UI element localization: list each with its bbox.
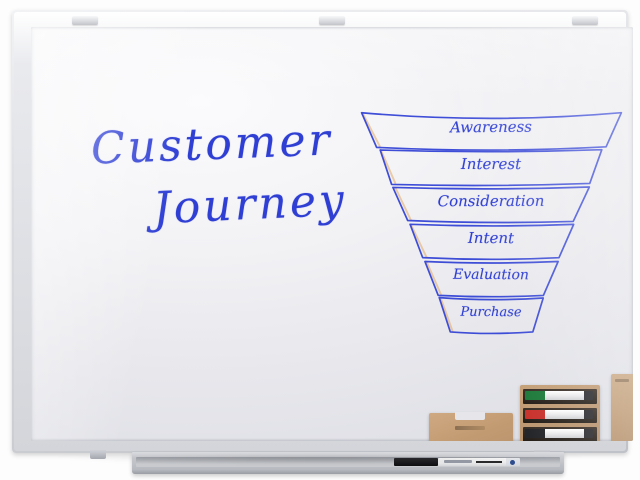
funnel-stage-label-consideration: Consideration bbox=[438, 192, 545, 210]
board-drop-shadow bbox=[18, 456, 622, 468]
eraser-holder[interactable] bbox=[429, 413, 513, 441]
marker-slot-2 bbox=[523, 408, 597, 423]
green-marker[interactable] bbox=[525, 391, 593, 400]
whiteboard-scene: Legamaster Customer Journey AwarenessInt… bbox=[0, 0, 640, 480]
customer-journey-funnel: AwarenessInterestConsiderationIntentEval… bbox=[357, 107, 625, 342]
handwritten-title-line-1: Customer bbox=[90, 114, 333, 174]
marker-slot-1 bbox=[523, 389, 597, 404]
whiteboard-frame: Legamaster Customer Journey AwarenessInt… bbox=[12, 10, 628, 453]
pen-tray-lip bbox=[132, 469, 564, 474]
handwritten-title-line-2: Journey bbox=[152, 175, 348, 235]
funnel-stage-label-awareness: Awareness bbox=[450, 118, 532, 137]
red-marker[interactable] bbox=[525, 410, 593, 419]
marker-end bbox=[584, 410, 593, 419]
eraser-holder-logo bbox=[455, 426, 485, 430]
marker-end bbox=[584, 391, 593, 400]
marker-slot-3 bbox=[523, 427, 597, 441]
marker-cap bbox=[525, 429, 545, 438]
funnel-stage-label-purchase: Purchase bbox=[460, 305, 521, 321]
cardboard-strip-logo bbox=[615, 379, 629, 382]
cardboard-strip[interactable] bbox=[611, 374, 633, 441]
wall-mount-clip-center bbox=[319, 16, 345, 25]
marker-end bbox=[584, 429, 593, 438]
funnel-stage-label-interest: Interest bbox=[461, 155, 521, 173]
black-marker[interactable] bbox=[525, 429, 593, 438]
wall-mount-clip-right bbox=[572, 16, 598, 25]
marker-cap bbox=[525, 410, 545, 419]
funnel-stage-label-intent: Intent bbox=[468, 229, 514, 247]
marker-body bbox=[545, 410, 584, 419]
marker-body bbox=[545, 429, 584, 438]
eraser-holder-notch bbox=[455, 412, 485, 420]
wall-mount-clip-left bbox=[72, 16, 98, 25]
funnel-stage-label-evaluation: Evaluation bbox=[453, 267, 529, 284]
marker-body bbox=[545, 391, 584, 400]
marker-organizer[interactable] bbox=[520, 385, 600, 441]
whiteboard-writing-surface[interactable]: Customer Journey AwarenessInterestConsid… bbox=[31, 27, 633, 441]
marker-cap bbox=[525, 391, 545, 400]
